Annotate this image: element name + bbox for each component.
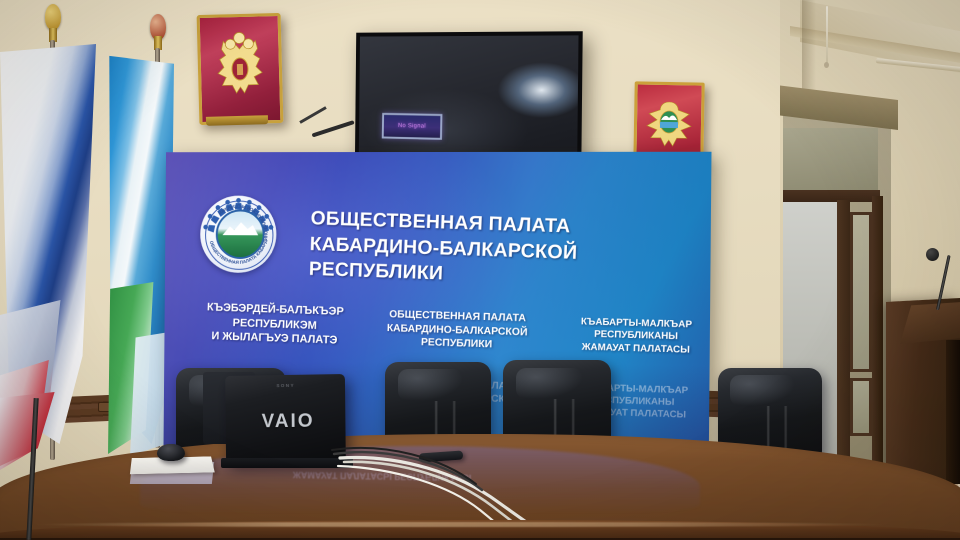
computer-mouse[interactable] bbox=[157, 444, 185, 461]
laptop-brand-vaio: VAIO bbox=[251, 411, 325, 434]
chair-highlight bbox=[516, 368, 583, 400]
chair-highlight bbox=[398, 369, 464, 400]
door-glass-panel-lower bbox=[850, 378, 872, 436]
svg-text:ОБЩЕСТВЕННАЯ ПАЛАТА КАБАРДИНО-: ОБЩЕСТВЕННАЯ ПАЛАТА КАБАРДИНО-БАЛКАРСКОЙ… bbox=[209, 203, 269, 265]
hanging-cable-tip bbox=[824, 62, 829, 68]
russia-coat-of-arms-base bbox=[206, 115, 268, 126]
vaio-laptop[interactable]: SONY VAIO bbox=[225, 374, 346, 463]
banner-column-kabardian: КЪЭБЭРДЕЙ-БАЛЪКЪЭР РЕСПУБЛИКЭМ И ЖЫЛАГЪУ… bbox=[181, 300, 369, 350]
door-glass-panel-upper bbox=[850, 212, 872, 372]
laptop-brand-sony: SONY bbox=[269, 383, 303, 389]
conference-room-photo: No Signal bbox=[0, 0, 960, 540]
tv-no-signal-box: No Signal bbox=[382, 113, 443, 140]
door-frame-top bbox=[783, 190, 880, 202]
microphone-icon[interactable] bbox=[926, 248, 939, 261]
door-transom-glass bbox=[783, 128, 878, 190]
emblem-ring-text: ОБЩЕСТВЕННАЯ ПАЛАТА КАБАРДИНО-БАЛКАРСКОЙ… bbox=[200, 196, 277, 273]
chair-highlight bbox=[730, 375, 794, 406]
hanging-cable bbox=[826, 6, 828, 64]
banner-column-russian: ОБЩЕСТВЕННАЯ ПАЛАТА КАБАРДИНО-БАЛКАРСКОЙ… bbox=[372, 308, 543, 354]
russia-coat-of-arms-icon bbox=[197, 13, 284, 125]
banner-headline: ОБЩЕСТВЕННАЯ ПАЛАТА КАБАРДИНО-БАЛКАРСКОЙ… bbox=[308, 206, 695, 296]
table-edge-highlight bbox=[30, 522, 890, 527]
banner-column-balkar: КЪАБАРТЫ-МАЛКЪАР РЕСПУБЛИКАНЫ ЖАМАУАТ ПА… bbox=[558, 316, 711, 358]
flag-pole-finial-russia bbox=[45, 4, 61, 30]
public-chamber-emblem-icon: ОБЩЕСТВЕННАЯ ПАЛАТА КАБАРДИНО-БАЛКАРСКОЙ… bbox=[200, 196, 277, 273]
tv-no-signal-label: No Signal bbox=[398, 123, 426, 130]
